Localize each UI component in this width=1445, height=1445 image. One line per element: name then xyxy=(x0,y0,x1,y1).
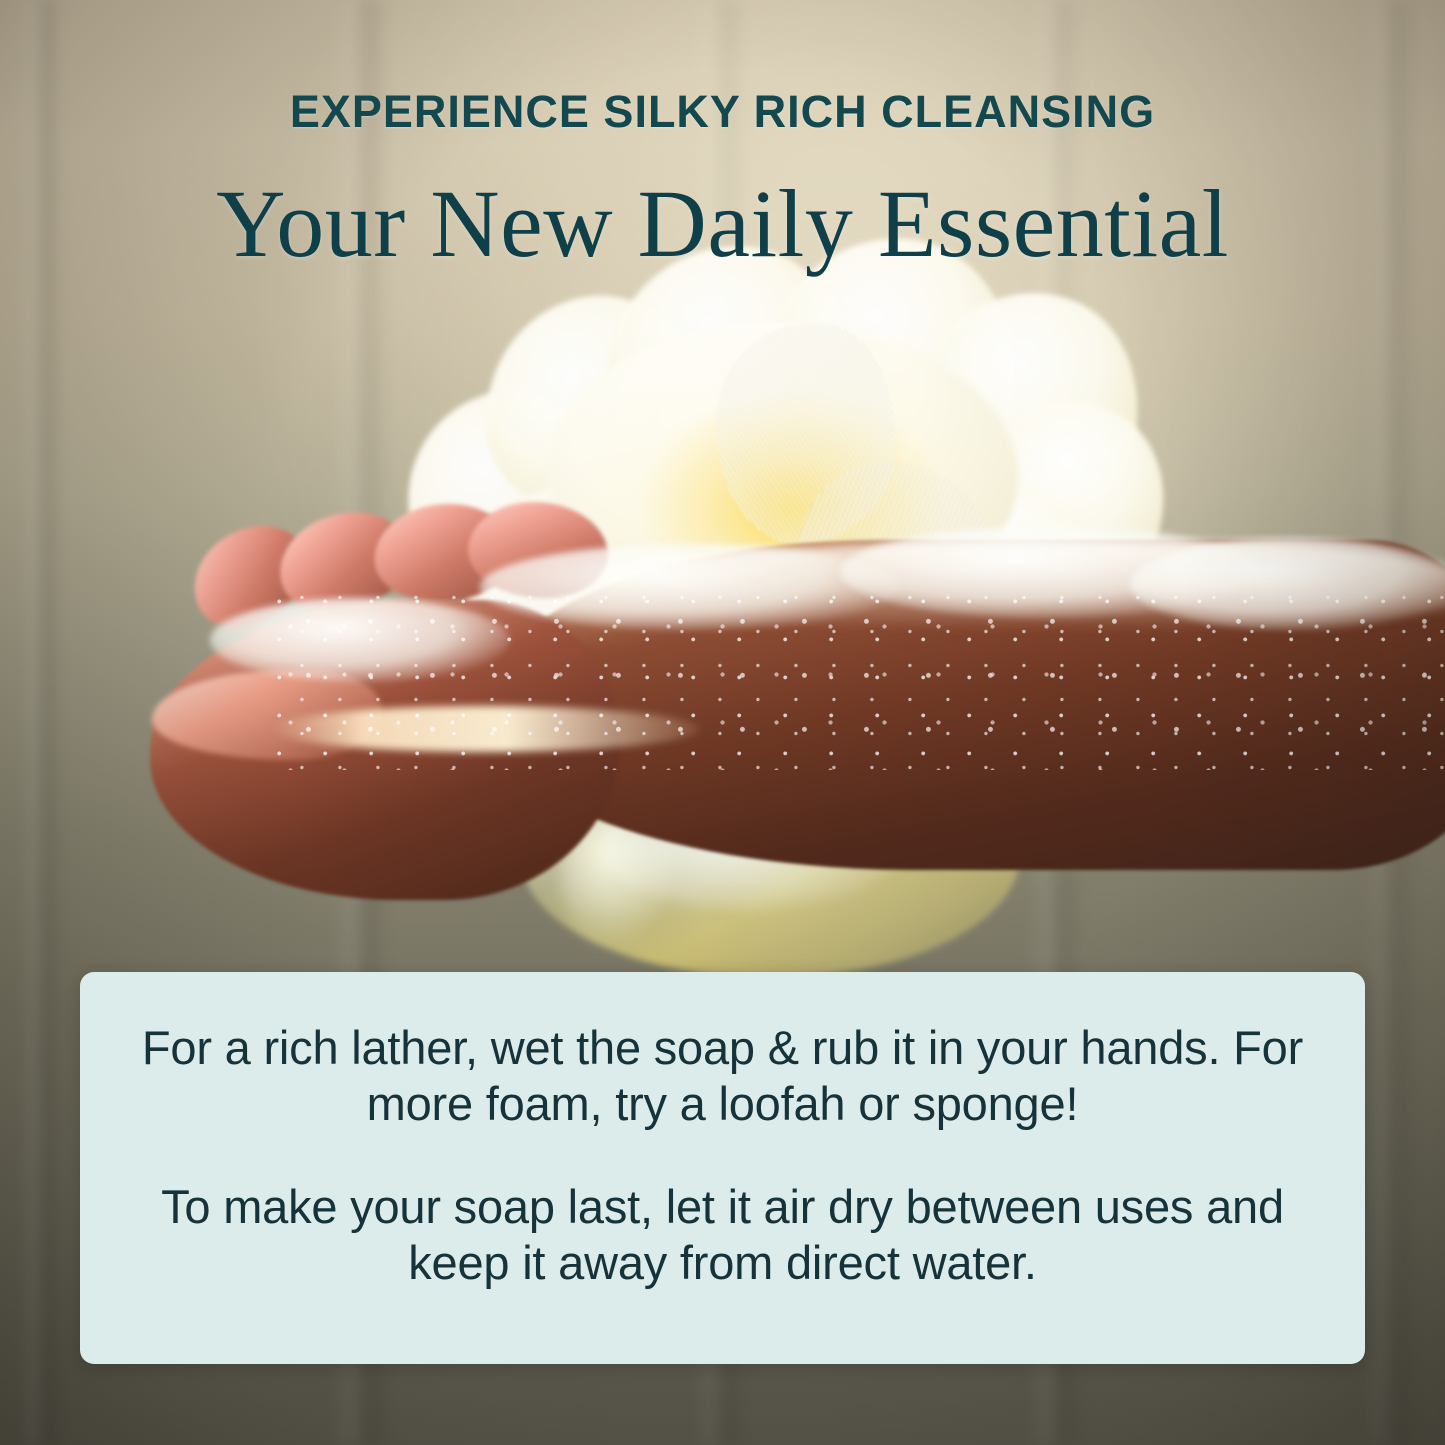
usage-tips-card: For a rich lather, wet the soap & rub it… xyxy=(80,972,1365,1364)
usage-tip-lather: For a rich lather, wet the soap & rub it… xyxy=(136,1020,1309,1133)
eyebrow-heading: EXPERIENCE SILKY RICH CLEANSING xyxy=(0,86,1445,138)
usage-tip-care: To make your soap last, let it air dry b… xyxy=(136,1179,1309,1292)
page-title: Your New Daily Essential xyxy=(0,168,1445,279)
product-lifestyle-banner: EXPERIENCE SILKY RICH CLEANSING Your New… xyxy=(0,0,1445,1445)
